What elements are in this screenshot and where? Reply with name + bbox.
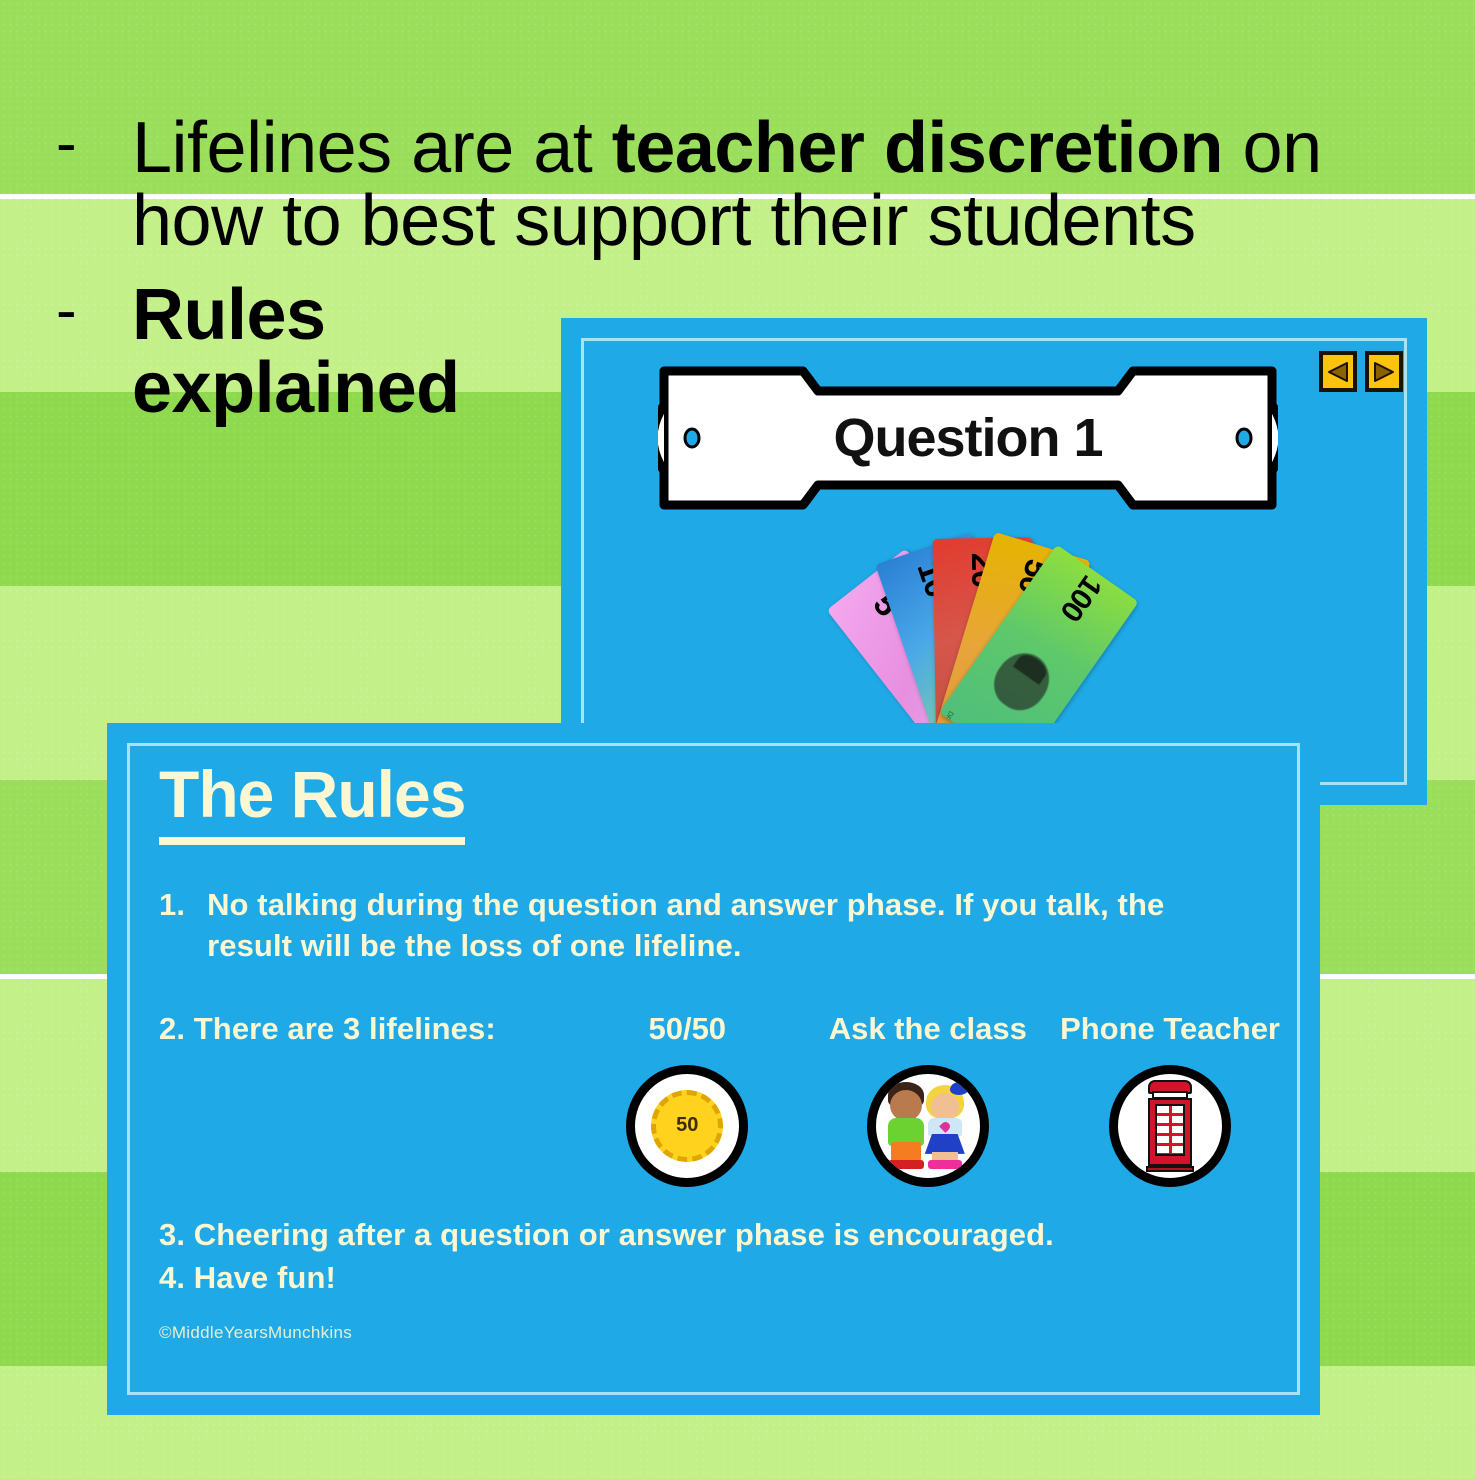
bullet-text-part-1: Lifelines are at xyxy=(132,108,612,188)
question-title-text: Question 1 xyxy=(658,365,1278,511)
rule-1-number: 1. xyxy=(159,885,185,967)
bullet-item-lifelines: - Lifelines are at teacher discretion on… xyxy=(56,112,1396,259)
rules-tail: 3. Cheering after a question or answer p… xyxy=(159,1215,1280,1299)
phone-booth-icon xyxy=(1109,1065,1231,1187)
rules-content: The Rules 1. No talking during the quest… xyxy=(159,761,1280,1397)
banknote-portrait xyxy=(984,643,1060,720)
lifeline-fifty-fifty[interactable]: 50/50 50 xyxy=(579,1011,796,1187)
slide-canvas: - Lifelines are at teacher discretion on… xyxy=(0,0,1475,1479)
lifeline-label: 50/50 xyxy=(579,1011,796,1047)
slide-navigation xyxy=(1319,351,1403,392)
lifeline-label: Ask the class xyxy=(820,1011,1037,1047)
rules-slide-card: The Rules 1. No talking during the quest… xyxy=(107,723,1320,1415)
phone-booth-illustration xyxy=(1146,1080,1194,1172)
banknote-denomination: 100 xyxy=(1053,569,1108,627)
lifeline-label: Phone Teacher xyxy=(1060,1011,1280,1047)
lifeline-phone-teacher[interactable]: Phone Teacher xyxy=(1060,1011,1280,1187)
bullet-marker: - xyxy=(56,112,98,175)
rule-item-3: 3. Cheering after a question or answer p… xyxy=(159,1215,1280,1256)
lifeline-columns: 50/50 50 Ask the class xyxy=(579,1011,1280,1187)
rule-item-1: 1. No talking during the question and an… xyxy=(159,885,1280,967)
previous-arrow-icon[interactable] xyxy=(1319,351,1357,392)
bullet-marker: - xyxy=(56,279,98,342)
bullet-text-lifelines: Lifelines are at teacher discretion on h… xyxy=(132,112,1396,259)
question-title-plaque: Question 1 xyxy=(658,365,1278,511)
rules-title: The Rules xyxy=(159,761,465,845)
kids-illustration xyxy=(880,1078,976,1174)
coin-50-icon: 50 xyxy=(626,1065,748,1187)
rule-2-lead-text: 2. There are 3 lifelines: xyxy=(159,1009,579,1050)
next-arrow-icon[interactable] xyxy=(1365,351,1403,392)
two-kids-icon xyxy=(867,1065,989,1187)
lifeline-ask-the-class[interactable]: Ask the class xyxy=(820,1011,1037,1187)
rule-item-4: 4. Have fun! xyxy=(159,1258,1280,1299)
copyright-watermark: ©MiddleYearsMunchkins xyxy=(159,1323,1280,1343)
bullet-text-bold: teacher discretion xyxy=(612,108,1223,188)
rule-item-2: 2. There are 3 lifelines: 50/50 50 Ask t… xyxy=(159,1009,1280,1187)
rule-1-text: No talking during the question and answe… xyxy=(207,885,1237,967)
coin-value: 50 xyxy=(651,1090,723,1162)
